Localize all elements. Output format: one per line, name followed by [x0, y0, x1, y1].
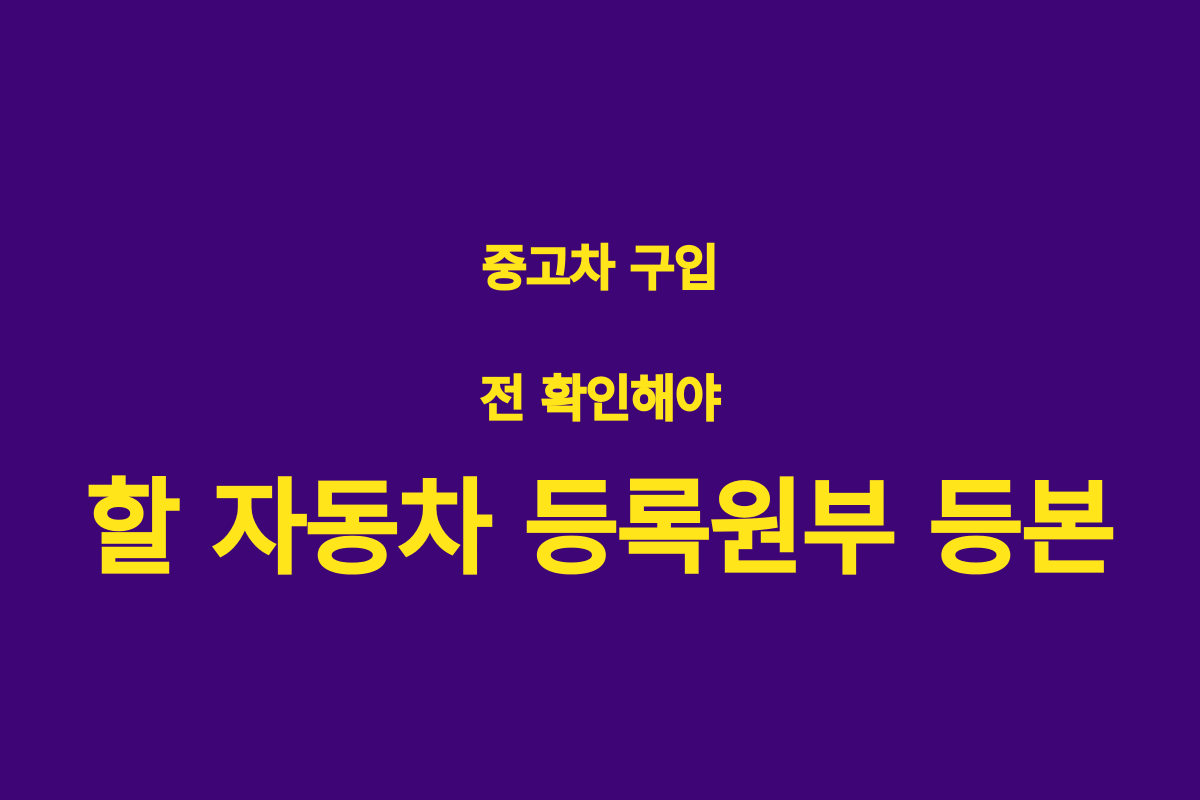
headline-line-2: 전 확인해야	[4, 334, 1196, 464]
headline-block: 중고차 구입 전 확인해야 할 자동차 등록원부 등본	[0, 204, 1200, 594]
poster-canvas: 중고차 구입 전 확인해야 할 자동차 등록원부 등본	[0, 0, 1200, 800]
headline-line-3: 할 자동차 등록원부 등본	[4, 464, 1196, 594]
headline-line-1: 중고차 구입	[4, 204, 1196, 334]
